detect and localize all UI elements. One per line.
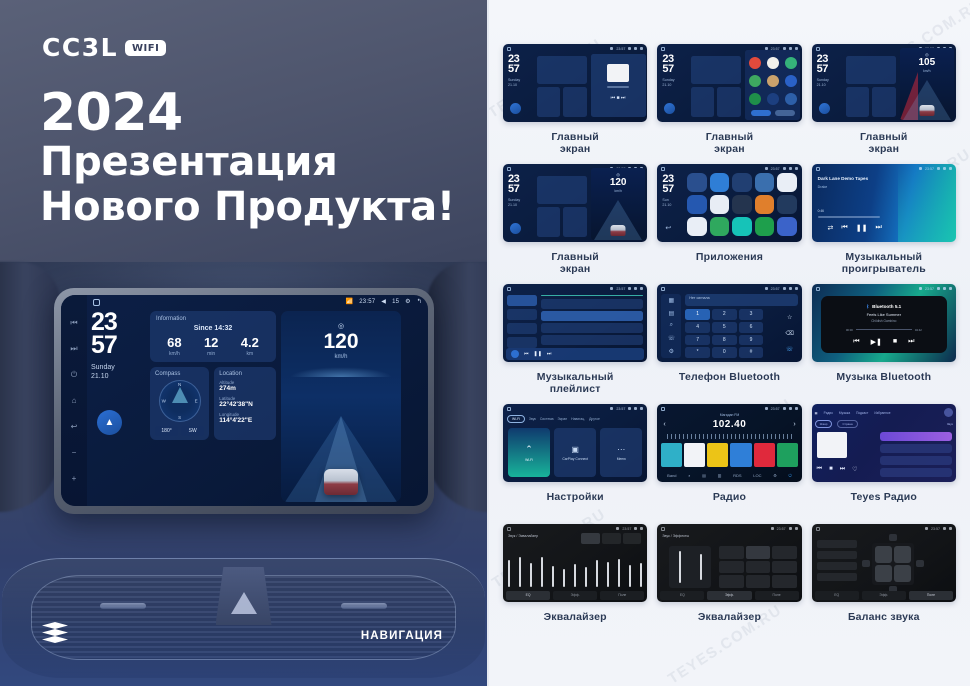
- clock: 2357: [662, 55, 673, 75]
- seat[interactable]: [875, 565, 892, 582]
- phone-sidebar[interactable]: ▦ ▤ ⌕ ☏ ⚙: [661, 294, 681, 358]
- list-item[interactable]: [880, 444, 952, 453]
- next-track-icon[interactable]: ⏭: [70, 344, 79, 353]
- album-art: [817, 432, 847, 458]
- back-arrow-icon[interactable]: ↰: [417, 298, 422, 305]
- tab-wifi[interactable]: Wi-Fi: [507, 415, 525, 423]
- horizon-glow: [281, 363, 401, 377]
- dash-right-trim: [427, 262, 487, 512]
- list-item: [541, 311, 643, 321]
- preset-row[interactable]: [817, 551, 857, 559]
- status-time: 23:57: [359, 299, 375, 305]
- compass-heading: 180°: [155, 426, 178, 436]
- app-icon[interactable]: [687, 195, 706, 214]
- dial-key[interactable]: 8: [712, 335, 737, 346]
- eq-tabs[interactable]: EQ Эфф. Поле: [660, 591, 798, 600]
- call-log-icon[interactable]: ☏: [668, 335, 676, 342]
- preset-tile[interactable]: [719, 546, 743, 559]
- home-icon: [661, 527, 665, 531]
- radio-toolbar[interactable]: Band ⌕ ▤ ▥ RDS LOC ⚙ ⏻: [661, 471, 797, 479]
- tile-wifi[interactable]: ⌃ Wi-Fi: [508, 428, 550, 477]
- home-icon: [816, 47, 820, 51]
- head-unit-screen[interactable]: ⏮ ⏭ ⏻ ⌂ ↩ − + 📶 23:57: [61, 295, 428, 506]
- gear-icon[interactable]: ⚙: [405, 298, 411, 305]
- search-icon[interactable]: ⌕: [688, 473, 690, 478]
- pause-icon[interactable]: ❚❚: [856, 224, 868, 232]
- track-title: Dark Lane Demo Tapes: [818, 176, 868, 181]
- information-widget[interactable]: Information Since 14:32 68 km/h: [150, 311, 276, 362]
- next-icon[interactable]: ⏭: [908, 338, 914, 346]
- app-icon[interactable]: [710, 217, 729, 236]
- balance-left-button[interactable]: [862, 560, 870, 567]
- seat[interactable]: [894, 565, 911, 582]
- band-button[interactable]: Band: [667, 473, 676, 478]
- eq-title: Звук / Эквалайзер: [508, 534, 538, 538]
- compass-widget[interactable]: Compass N E S W: [150, 367, 209, 440]
- previous-icon[interactable]: ⏮: [853, 338, 859, 346]
- list-item: [541, 335, 643, 345]
- eq-slider[interactable]: [585, 567, 587, 587]
- preset-station[interactable]: [661, 443, 682, 467]
- loc-icon[interactable]: LOC: [753, 473, 761, 478]
- information-title: Information: [156, 316, 270, 322]
- layers-icon: [42, 622, 68, 644]
- tab-other[interactable]: Другое: [589, 417, 600, 421]
- app-icon[interactable]: [732, 217, 751, 236]
- headline: 2024 Презентация Нового Продукта!: [40, 86, 460, 230]
- preset-station[interactable]: [684, 443, 705, 467]
- next-icon[interactable]: ⏭: [547, 351, 552, 357]
- call-icon[interactable]: ☏: [786, 346, 794, 353]
- app-icon[interactable]: [755, 173, 774, 192]
- screens-gallery-panel: TEYES.COM.RU TEYES.COM.RU TEYES.COM.RU T…: [487, 0, 970, 686]
- drive-view: ◎ 120 km/h: [591, 168, 645, 240]
- app-icon[interactable]: [755, 195, 774, 214]
- navigation-label: НАВИГАЦИЯ: [361, 630, 443, 642]
- caption: Главныйэкран: [551, 251, 599, 277]
- tab-sound[interactable]: Звук: [529, 417, 536, 421]
- compass-needle: [172, 387, 188, 403]
- preset-tile[interactable]: [719, 575, 743, 588]
- app-icon[interactable]: [777, 217, 796, 236]
- thumb-home-drive-120[interactable]: 23:57 2357 Sunday21.10 ◎ 120 km/h: [503, 164, 647, 242]
- gallery-item[interactable]: 23:57 Звук / Эффекты: [657, 524, 801, 637]
- home-icon: [507, 47, 511, 51]
- list-item[interactable]: [880, 432, 952, 441]
- preset-tile[interactable]: [719, 561, 743, 574]
- home-icon: [661, 287, 665, 291]
- eq-slider[interactable]: [679, 551, 681, 583]
- center-console: [2, 558, 485, 678]
- dial-key[interactable]: 4: [685, 322, 710, 333]
- list-icon[interactable]: ▤: [702, 473, 706, 478]
- information-stats: 68 km/h 12 min: [156, 336, 270, 357]
- gallery-item[interactable]: 23:57 ▦ ▤ ⌕ ☏ ⚙ Нет сигнала 1 2 3 4 5: [657, 284, 801, 397]
- gallery-item[interactable]: 23:57 2357 Sunday21.10 ◎ 105 km/h: [812, 44, 956, 157]
- favorite-icon[interactable]: ♡: [852, 466, 857, 473]
- list-item: [541, 323, 643, 333]
- balance-up-button[interactable]: [889, 534, 897, 541]
- bt-player-card: ᛒ Bluetooth 5.1 Feels Like Summer Childi…: [821, 296, 947, 353]
- speed-unit: km/h: [281, 354, 401, 360]
- gallery-item[interactable]: ▦РадиоМузыкаПодкастИзбранное Жанр Страна…: [812, 404, 956, 517]
- preset-station[interactable]: [730, 443, 751, 467]
- preset-tile[interactable]: [746, 561, 770, 574]
- preset-tile[interactable]: [746, 575, 770, 588]
- play-pause-icon[interactable]: ▶❚: [871, 338, 882, 346]
- previous-icon[interactable]: ⏮: [817, 466, 822, 473]
- home-icon: [507, 527, 511, 531]
- caption: Приложения: [696, 251, 763, 277]
- home-icon: [507, 287, 511, 291]
- settings-icon[interactable]: ⚙: [773, 473, 777, 478]
- app-icon[interactable]: [777, 173, 796, 192]
- list-item: [541, 299, 643, 309]
- transport-controls[interactable]: ⇄ ⏮ ❚❚ ⏭: [818, 224, 892, 232]
- back-icon[interactable]: ↩: [665, 224, 671, 232]
- status-bar: 📶 23:57 ◀ 15 ⚙ ↰: [346, 298, 422, 305]
- previous-icon[interactable]: ⏮: [524, 351, 529, 357]
- preset-row[interactable]: [817, 562, 857, 570]
- home-widgets: 23 57 Sunday 21.10 ▲: [91, 311, 424, 502]
- eq-tabs[interactable]: EQ Эфф. Поле: [506, 591, 644, 600]
- speed-value: 105: [900, 57, 954, 68]
- dial-key[interactable]: 0: [712, 347, 737, 358]
- list-item[interactable]: [880, 468, 952, 477]
- tuner-scale[interactable]: [667, 434, 791, 439]
- air-vent-right: [341, 603, 387, 609]
- longitude-row: Longitude 114°4'22"E: [219, 412, 271, 424]
- eq-icon[interactable]: ▥: [718, 473, 722, 478]
- thumb-settings[interactable]: 23:57 Wi-Fi Звук Система Экран Навигац. …: [503, 404, 647, 482]
- preset-tile[interactable]: [772, 575, 796, 588]
- dial-key[interactable]: 6: [739, 322, 764, 333]
- gallery-item[interactable]: 23:57 ᛒ Bluetooth 5.1 Feels Like Summer …: [812, 284, 956, 397]
- tab-system[interactable]: Система: [540, 417, 554, 421]
- volume-icon: ◀: [381, 298, 386, 305]
- head-unit-home: 📶 23:57 ◀ 15 ⚙ ↰ 23 57: [87, 295, 428, 506]
- balance-right-button[interactable]: [916, 560, 924, 567]
- product-logo: CC3L WIFI: [42, 33, 166, 62]
- tab-nav[interactable]: Навигац.: [571, 417, 585, 421]
- eq-preset[interactable]: [602, 533, 621, 544]
- information-since: Since 14:32: [156, 325, 270, 332]
- track-artist: Drake: [818, 185, 828, 189]
- tab-display[interactable]: Экран: [558, 417, 568, 421]
- thumb-teyes-radio[interactable]: ▦РадиоМузыкаПодкастИзбранное Жанр Страна…: [812, 404, 956, 482]
- headline-line-2: Нового Продукта!: [40, 185, 460, 230]
- eq-slider[interactable]: [541, 557, 543, 587]
- presentation-page: CC3L WIFI 2024 Презентация Нового Продук…: [0, 0, 970, 686]
- wifi-badge: WIFI: [125, 40, 166, 56]
- stop-icon[interactable]: ■: [829, 466, 833, 473]
- headline-line-1: Презентация: [40, 140, 460, 185]
- headline-year: 2024: [40, 86, 460, 140]
- teyes-top-tabs[interactable]: ▦РадиоМузыкаПодкастИзбранное: [815, 408, 953, 417]
- preset-tile[interactable]: [772, 546, 796, 559]
- screen-home-icon[interactable]: [93, 299, 100, 306]
- caption: Настройки: [547, 491, 604, 517]
- caption: Музыка Bluetooth: [836, 371, 931, 397]
- track-artist: Childish Gambino: [871, 319, 896, 323]
- caption: Эквалайзер: [544, 611, 607, 637]
- thumb-home-media[interactable]: 23:57 2357 Sunday21.10 ⏮ ■ ⏭: [503, 44, 647, 122]
- gallery-item[interactable]: 23:57 Магадан FM 102.40 ‹ ›: [657, 404, 801, 517]
- stop-icon[interactable]: ■: [893, 338, 897, 346]
- prev-track-icon[interactable]: ⏮: [70, 318, 79, 327]
- phone-link-icon: ▣: [571, 445, 579, 454]
- dialpad-icon[interactable]: ▦: [668, 297, 674, 304]
- eq-preset[interactable]: [581, 533, 600, 544]
- settings-tiles[interactable]: ⌃ Wi-Fi ▣ CarPlay Connect ⋯ Меню: [508, 428, 642, 477]
- drive-view-widget[interactable]: ◎ 120 km/h: [281, 311, 401, 502]
- playlist-sidebar[interactable]: [507, 295, 537, 346]
- avatar[interactable]: [944, 408, 953, 417]
- thumb-equalizer-bands[interactable]: 23:57 Звук / Эквалайзер: [503, 524, 647, 602]
- caption: Главныйэкран: [706, 131, 754, 157]
- time-end: 04:42: [915, 328, 922, 332]
- preset-tile[interactable]: [746, 546, 770, 559]
- home-icon: [816, 287, 820, 291]
- preset-station[interactable]: [777, 443, 798, 467]
- seat[interactable]: [875, 546, 892, 563]
- caption: Главныйэкран: [860, 131, 908, 157]
- caption: Музыкальныйпроигрыватель: [842, 251, 926, 277]
- caption: Радио: [713, 491, 746, 517]
- compass-direction: SW: [181, 426, 204, 436]
- stat-item: 68 km/h: [167, 336, 181, 357]
- settings-tabs[interactable]: Wi-Fi Звук Система Экран Навигац. Другое: [507, 414, 643, 423]
- power-icon[interactable]: ⏻: [70, 370, 79, 379]
- app-icon[interactable]: [710, 195, 729, 214]
- eq-preset[interactable]: [623, 533, 642, 544]
- navigation-icon[interactable]: ▲: [97, 410, 122, 435]
- preset-tile[interactable]: [772, 561, 796, 574]
- altitude-row: Altitude 274m: [219, 380, 271, 392]
- eq-slider[interactable]: [563, 569, 565, 587]
- eq-title: Звук / Эффекты: [662, 534, 689, 538]
- thumb-sound-balance[interactable]: 23:57: [812, 524, 956, 602]
- wifi-icon: 📶: [346, 298, 354, 305]
- app-icon[interactable]: [732, 195, 751, 214]
- eq-tabs[interactable]: EQ Эфф. Поле: [815, 591, 953, 600]
- hazard-triangle-icon: [231, 592, 257, 614]
- back-icon[interactable]: ↩: [70, 422, 79, 431]
- caption: Баланс звука: [848, 611, 920, 637]
- seat[interactable]: [894, 546, 911, 563]
- dial-key[interactable]: 1: [685, 309, 710, 320]
- home-icon: [507, 167, 511, 171]
- head-unit-side-keys[interactable]: ⏮ ⏭ ⏻ ⌂ ↩ − +: [61, 295, 87, 506]
- navigation-icon[interactable]: [819, 103, 830, 114]
- tile-menu[interactable]: ⋯ Меню: [600, 428, 642, 477]
- eq-slider[interactable]: [574, 564, 576, 587]
- drive-view: ◎ 105 km/h: [900, 48, 954, 120]
- next-station-icon[interactable]: ›: [793, 421, 795, 428]
- eq-slider[interactable]: [530, 563, 532, 587]
- app-icon[interactable]: [710, 173, 729, 192]
- eq-slider[interactable]: [700, 554, 702, 581]
- now-playing-bar[interactable]: ⏮ ❚❚ ⏭: [506, 348, 644, 360]
- next-icon[interactable]: ⏭: [875, 224, 881, 232]
- home-icon: [507, 407, 511, 411]
- clock-widget: 23 57 Sunday 21.10 ▲: [91, 311, 145, 502]
- home-icon: [661, 167, 665, 171]
- backspace-icon[interactable]: ⌫: [785, 330, 793, 337]
- shuffle-icon[interactable]: ⇄: [828, 224, 834, 232]
- seat-map[interactable]: [872, 543, 914, 585]
- home-icon: [816, 167, 820, 171]
- preset-row[interactable]: [817, 540, 857, 548]
- stat-item: 12 min: [204, 336, 218, 357]
- eq-slider[interactable]: [508, 560, 510, 587]
- dial-key[interactable]: 5: [712, 322, 737, 333]
- dial-key[interactable]: 7: [685, 335, 710, 346]
- screen-bezel: ⏮ ⏭ ⏻ ⌂ ↩ − + 📶 23:57: [54, 288, 434, 514]
- clock: 2357: [817, 55, 828, 75]
- thumb-radio[interactable]: 23:57 Магадан FM 102.40 ‹ ›: [657, 404, 801, 482]
- caption: Teyes Радио: [851, 491, 917, 517]
- eq-slider[interactable]: [519, 557, 521, 587]
- hazard-button[interactable]: [216, 567, 272, 625]
- transport-controls[interactable]: ⏮ ■ ⏭ ♡: [817, 466, 879, 473]
- settings-icon[interactable]: ⚙: [669, 348, 674, 355]
- compass-title: Compass: [155, 371, 204, 377]
- navigation-icon[interactable]: [510, 223, 521, 234]
- clock-date: 21.10: [91, 373, 145, 382]
- speed-value: 120: [281, 331, 401, 352]
- effect-presets[interactable]: [719, 546, 796, 588]
- latitude-row: Latitude 22°42'38"N: [219, 396, 271, 408]
- app-icon[interactable]: [687, 217, 706, 236]
- gallery-item[interactable]: 23:57 2357 Sunday21.10 ⏮ ■ ⏭ Главныйэкра…: [503, 44, 647, 157]
- elapsed-time: 0:46: [818, 209, 824, 213]
- dial-pad[interactable]: 1 2 3 4 5 6 7 8 9 * 0 #: [685, 309, 763, 358]
- list-item[interactable]: [880, 456, 952, 465]
- caption: Музыкальныйплейлист: [537, 371, 614, 397]
- clock: 2357: [508, 55, 519, 75]
- teyes-filters[interactable]: Жанр Страна Звук: [815, 420, 953, 428]
- eq-slider[interactable]: [596, 560, 598, 587]
- thumb-equalizer-presets[interactable]: 23:57 Звук / Эффекты: [657, 524, 801, 602]
- app-icon[interactable]: [755, 217, 774, 236]
- clock-minutes: 57: [91, 334, 145, 357]
- wifi-icon: ⌃: [525, 444, 533, 455]
- home-icon: [661, 47, 665, 51]
- dial-key[interactable]: 2: [712, 309, 737, 320]
- location-widget[interactable]: Location Altitude 274m Latitude 22°: [214, 367, 276, 440]
- tile-carplay[interactable]: ▣ CarPlay Connect: [554, 428, 596, 477]
- clock: 2357: [662, 175, 673, 195]
- preset-station[interactable]: [754, 443, 775, 467]
- thumb-bt-phone[interactable]: 23:57 ▦ ▤ ⌕ ☏ ⚙ Нет сигнала 1 2 3 4 5: [657, 284, 801, 362]
- power-icon[interactable]: ⏻: [789, 473, 792, 478]
- rds-icon[interactable]: RDS: [733, 473, 741, 478]
- navigation-icon[interactable]: [664, 103, 675, 114]
- favorite-icon[interactable]: ☆: [787, 314, 792, 321]
- preset-stations[interactable]: [661, 443, 797, 467]
- navigation-icon[interactable]: [510, 103, 521, 114]
- gallery-item[interactable]: 23:57 Wi-Fi Звук Система Экран Навигац. …: [503, 404, 647, 517]
- preset-station[interactable]: [707, 443, 728, 467]
- track-list[interactable]: [541, 295, 643, 346]
- gallery-item[interactable]: 23:57 2357 Sun21.10 ↩: [657, 164, 801, 277]
- next-icon[interactable]: ⏭: [840, 466, 845, 473]
- dial-key[interactable]: #: [739, 347, 764, 358]
- thumb-music-playlist[interactable]: 23:57: [503, 284, 647, 362]
- prev-station-icon[interactable]: ‹: [663, 421, 665, 428]
- thumb-music-player[interactable]: 23:57 Dark Lane Demo Tapes Drake 0:46 ⇄ …: [812, 164, 956, 242]
- eq-slider[interactable]: [618, 559, 620, 587]
- volume-up-icon[interactable]: +: [70, 474, 79, 483]
- bt-badge: Bluetooth 5.1: [872, 304, 901, 309]
- dial-key[interactable]: 9: [739, 335, 764, 346]
- speed-value: 120: [591, 177, 645, 188]
- eq-bands[interactable]: [508, 549, 642, 587]
- hero-panel: CC3L WIFI 2024 Презентация Нового Продук…: [0, 0, 487, 686]
- gallery-item[interactable]: 23:57 2357 Sunday21.10 ◎ 120 km/h: [503, 164, 647, 277]
- gallery-item[interactable]: 23:57: [812, 524, 956, 637]
- balance-presets[interactable]: [817, 540, 857, 581]
- preset-row[interactable]: [817, 573, 857, 581]
- teyes-station-list[interactable]: [880, 432, 952, 477]
- app-icon[interactable]: [732, 173, 751, 192]
- logo-text: CC3L: [42, 33, 118, 62]
- app-icon[interactable]: [687, 173, 706, 192]
- caption: Телефон Bluetooth: [679, 371, 780, 397]
- thumb-home-drive-105[interactable]: 23:57 2357 Sunday21.10 ◎ 105 km/h: [812, 44, 956, 122]
- radio-band: Магадан FM: [657, 413, 801, 417]
- app-grid[interactable]: [687, 173, 796, 236]
- gallery-item[interactable]: 23:57 2357 Sunday21.10: [657, 44, 801, 157]
- thumb-home-apps[interactable]: 23:57 2357 Sunday21.10: [657, 44, 801, 122]
- clock-day: Sunday: [91, 364, 145, 373]
- speed-icon: ◎: [338, 322, 344, 330]
- radio-frequency: 102.40: [657, 419, 801, 430]
- dialed-number: Нет сигнала: [685, 294, 797, 306]
- eq-slider[interactable]: [640, 563, 642, 587]
- gallery-item[interactable]: 23:57 Dark Lane Demo Tapes Drake 0:46 ⇄ …: [812, 164, 956, 277]
- dial-key[interactable]: *: [685, 347, 710, 358]
- home-icon[interactable]: ⌂: [70, 396, 79, 405]
- teyes-now-playing: ⏮ ■ ⏭ ♡: [817, 432, 879, 477]
- gallery-item[interactable]: 23:57: [503, 284, 647, 397]
- time-start: 00:00: [846, 328, 853, 332]
- pause-icon[interactable]: ❚❚: [534, 351, 542, 357]
- dial-key[interactable]: 3: [739, 309, 764, 320]
- contacts-icon[interactable]: ▤: [668, 310, 674, 317]
- compass-dial: N E S W: [159, 380, 201, 422]
- search-icon[interactable]: ⌕: [670, 322, 673, 329]
- thumb-bt-music[interactable]: 23:57 ᛒ Bluetooth 5.1 Feels Like Summer …: [812, 284, 956, 362]
- transport-controls[interactable]: ⏮ ▶❚ ■ ⏭: [853, 338, 914, 346]
- gallery-item[interactable]: 23:57 Звук / Эквалайзер: [503, 524, 647, 637]
- air-vent-left: [100, 603, 146, 609]
- eq-slider[interactable]: [552, 566, 554, 587]
- screens-grid: 23:57 2357 Sunday21.10 ⏮ ■ ⏭ Главныйэкра…: [503, 44, 956, 637]
- level-sliders[interactable]: [669, 546, 711, 588]
- eq-slider[interactable]: [629, 565, 631, 587]
- location-title: Location: [219, 371, 271, 377]
- status-bar: 23:57: [610, 47, 643, 51]
- previous-icon[interactable]: ⏮: [841, 224, 847, 232]
- bluetooth-icon: ᛒ: [866, 304, 869, 309]
- volume-down-icon[interactable]: −: [70, 448, 79, 457]
- thumb-app-drawer[interactable]: 23:57 2357 Sun21.10 ↩: [657, 164, 801, 242]
- car-model: [324, 469, 358, 495]
- app-icon[interactable]: [777, 195, 796, 214]
- eq-slider[interactable]: [607, 562, 609, 587]
